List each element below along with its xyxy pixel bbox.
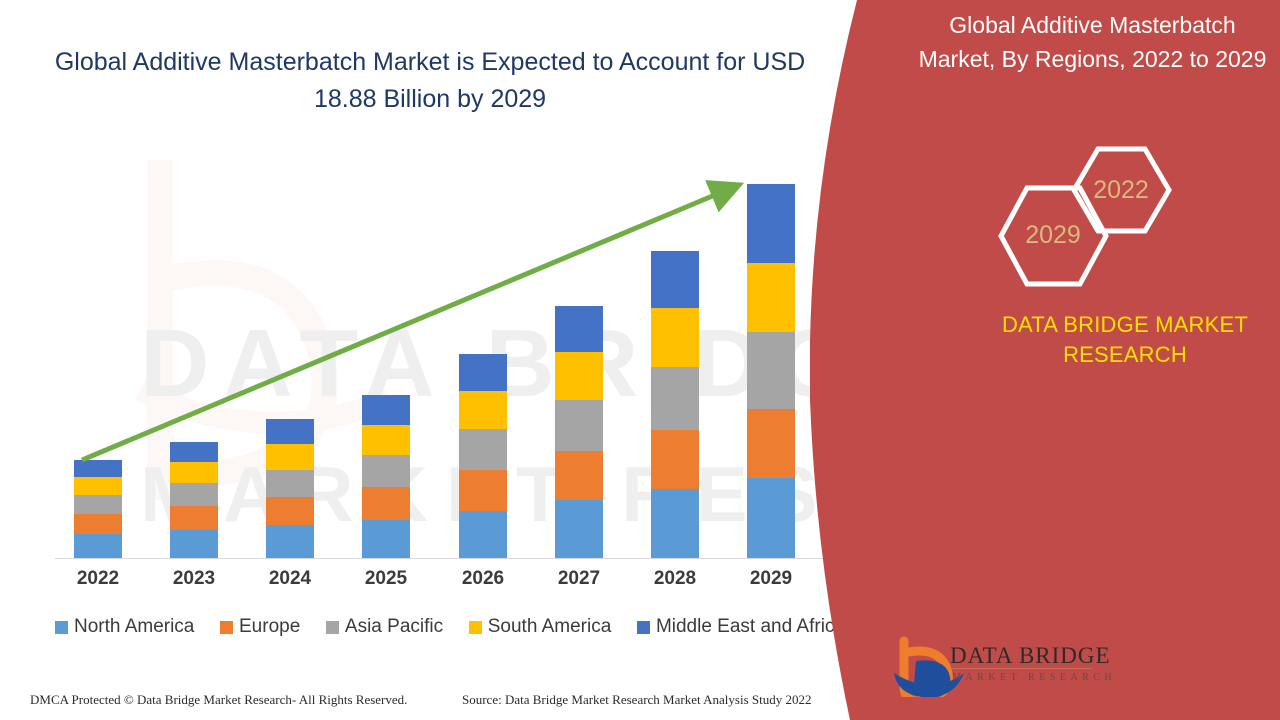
- bar-segment: [555, 500, 603, 558]
- bar-segment: [555, 352, 603, 399]
- growth-arrow-icon: [0, 0, 860, 620]
- hex-label-start: 2022: [1071, 176, 1171, 205]
- year-hexagons: 2022 2029: [975, 145, 1200, 295]
- legend-label: Asia Pacific: [345, 616, 443, 638]
- bar-segment: [747, 332, 795, 409]
- bar-segment: [362, 395, 410, 424]
- bar-segment: [555, 400, 603, 451]
- bar-segment: [651, 308, 699, 367]
- bar-segment: [459, 511, 507, 558]
- x-axis-label: 2026: [438, 568, 528, 590]
- bar-segment: [74, 514, 122, 534]
- brand-name: DATA BRIDGE MARKET RESEARCH: [975, 310, 1275, 370]
- x-axis-label: 2022: [53, 568, 143, 590]
- bar-segment: [362, 425, 410, 456]
- bar-segment: [555, 306, 603, 352]
- legend-item: Europe: [220, 616, 300, 638]
- bar-segment: [170, 442, 218, 462]
- chart-legend: North AmericaEuropeAsia PacificSouth Ame…: [55, 616, 845, 638]
- legend-swatch-icon: [220, 621, 233, 634]
- bar-segment: [651, 251, 699, 309]
- bar-segment: [170, 483, 218, 506]
- legend-swatch-icon: [637, 621, 650, 634]
- footer-source: Source: Data Bridge Market Research Mark…: [462, 692, 811, 708]
- bar-2029: [747, 184, 795, 558]
- bar-segment: [747, 478, 795, 558]
- stacked-bar-chart: 20222023202420252026202720282029: [0, 0, 860, 620]
- x-axis-label: 2029: [726, 568, 816, 590]
- logo-primary-text: DATA BRIDGE: [950, 643, 1111, 669]
- logo-secondary-text: MARKET RESEARCH: [952, 672, 1116, 683]
- legend-label: North America: [74, 616, 194, 638]
- bar-segment: [362, 487, 410, 520]
- bar-segment: [651, 430, 699, 489]
- bar-2023: [170, 442, 218, 558]
- bar-segment: [266, 497, 314, 525]
- bar-segment: [651, 367, 699, 430]
- bar-2028: [651, 251, 699, 558]
- bar-segment: [747, 263, 795, 332]
- panel-title: Global Additive Masterbatch Market, By R…: [915, 8, 1270, 76]
- bar-segment: [74, 477, 122, 495]
- bar-2026: [459, 354, 507, 559]
- infographic-canvas: DATA BRIDGE MARKET RESEARCH Global Addit…: [0, 0, 1280, 720]
- bar-segment: [266, 419, 314, 444]
- legend-item: South America: [469, 616, 612, 638]
- x-axis-label: 2024: [245, 568, 335, 590]
- logo-divider: [952, 668, 1092, 669]
- hex-label-end: 2029: [1003, 221, 1103, 250]
- bar-segment: [170, 462, 218, 483]
- x-axis-label: 2027: [534, 568, 624, 590]
- bar-segment: [459, 354, 507, 391]
- bar-segment: [459, 429, 507, 470]
- bar-2025: [362, 395, 410, 558]
- bar-2027: [555, 306, 603, 558]
- bar-segment: [74, 534, 122, 558]
- x-axis-label: 2028: [630, 568, 720, 590]
- x-axis-line: [55, 558, 827, 559]
- bar-segment: [74, 495, 122, 514]
- bar-segment: [362, 520, 410, 558]
- bar-segment: [170, 506, 218, 530]
- bar-2024: [266, 419, 314, 558]
- bar-segment: [362, 455, 410, 487]
- legend-swatch-icon: [326, 621, 339, 634]
- bar-segment: [555, 451, 603, 501]
- bar-segment: [266, 470, 314, 497]
- bar-2022: [74, 460, 122, 558]
- bar-segment: [266, 444, 314, 470]
- bar-segment: [747, 184, 795, 263]
- hexagon-outline-icon: [975, 145, 1200, 295]
- bar-segment: [266, 525, 314, 558]
- bar-segment: [459, 391, 507, 429]
- footer-copyright: DMCA Protected © Data Bridge Market Rese…: [30, 692, 407, 708]
- bar-segment: [747, 409, 795, 478]
- x-axis-label: 2025: [341, 568, 431, 590]
- bar-segment: [74, 460, 122, 477]
- legend-label: South America: [488, 616, 612, 638]
- bar-segment: [170, 530, 218, 558]
- legend-swatch-icon: [55, 621, 68, 634]
- x-axis-label: 2023: [149, 568, 239, 590]
- legend-label: Europe: [239, 616, 300, 638]
- legend-swatch-icon: [469, 621, 482, 634]
- legend-item: North America: [55, 616, 194, 638]
- legend-item: Asia Pacific: [326, 616, 443, 638]
- bar-segment: [651, 489, 699, 558]
- bar-segment: [459, 470, 507, 511]
